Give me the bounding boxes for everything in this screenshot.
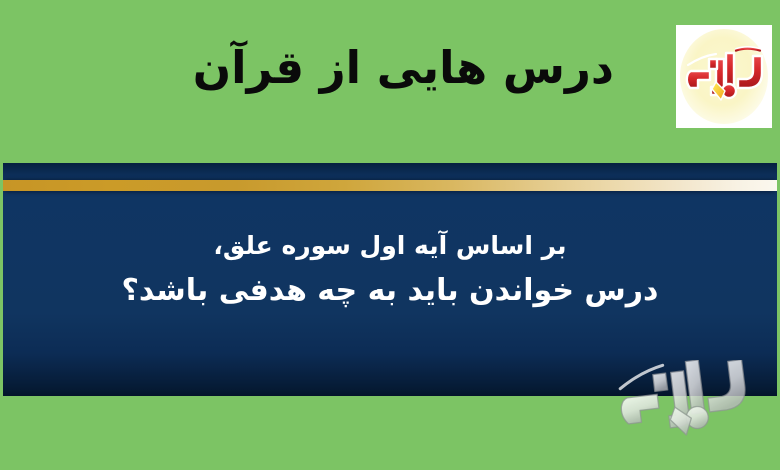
gold-accent-stripe xyxy=(3,180,777,191)
page-title: درس هایی از قرآن xyxy=(94,36,614,100)
panel-top-shade xyxy=(3,163,777,180)
logo-card[interactable] xyxy=(676,25,772,128)
question-line-1: بر اساس آیه اول سوره علق، xyxy=(3,225,777,267)
header-banner: درس هایی از قرآن xyxy=(0,0,780,163)
question-panel: بر اساس آیه اول سوره علق، درس خواندن بای… xyxy=(3,163,777,396)
question-text-block: بر اساس آیه اول سوره علق، درس خواندن بای… xyxy=(3,225,777,315)
question-line-2: درس خواندن باید به چه هدفی باشد؟ xyxy=(3,267,777,315)
kolak-logo-icon xyxy=(676,25,772,128)
